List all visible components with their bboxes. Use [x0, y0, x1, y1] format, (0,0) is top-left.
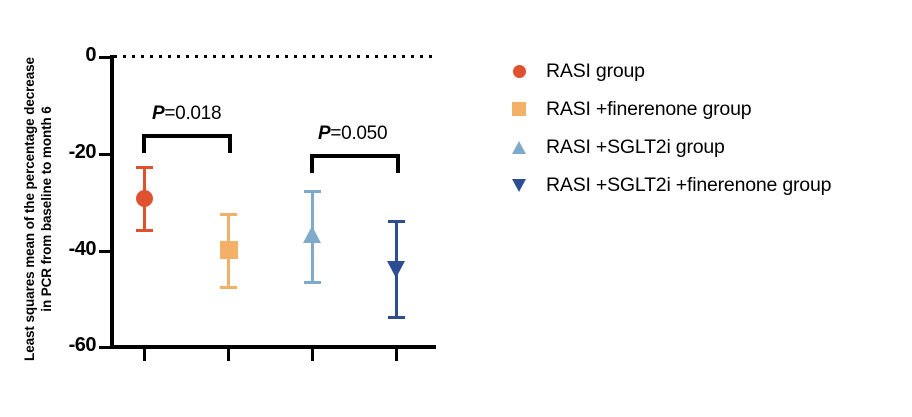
error-bar-cap-lower-3 — [304, 281, 321, 284]
legend-key-triangle-up-icon — [507, 135, 531, 159]
marker-triangle-up-icon — [303, 226, 321, 243]
error-bar-cap-upper-3 — [304, 190, 321, 193]
marker-square-icon — [220, 241, 238, 259]
legend-item-rasi-finerenone-group[interactable]: RASI +finerenone group — [495, 90, 910, 128]
p-value-text-1: =0.018 — [164, 103, 221, 124]
data-point-rasi-sglt2i-finerenone-group[interactable] — [396, 220, 397, 319]
error-bar-cap-upper-1 — [136, 166, 153, 169]
marker-circle-icon — [136, 190, 153, 207]
data-point-rasi-sglt2i-group[interactable] — [312, 190, 313, 284]
legend-item-rasi-sglt2i-finerenone-group[interactable]: RASI +SGLT2i +finerenone group — [495, 166, 910, 204]
chart-legend: RASI group RASI +finerenone group RASI +… — [495, 52, 910, 204]
data-point-rasi-group[interactable] — [144, 166, 145, 232]
x-tick-3 — [311, 347, 315, 361]
y-tick-3 — [99, 346, 110, 350]
y-tick-label-2: -40 — [50, 239, 96, 259]
p-value-annotation-2: P=0.050 — [318, 124, 387, 144]
error-bar-cap-lower-2 — [220, 286, 237, 289]
x-tick-4 — [395, 347, 399, 361]
legend-label-2: RASI +finerenone group — [546, 98, 751, 120]
legend-item-rasi-group[interactable]: RASI group — [495, 52, 910, 90]
legend-item-rasi-sglt2i-group[interactable]: RASI +SGLT2i group — [495, 128, 910, 166]
y-tick-label-3: -60 — [50, 335, 96, 355]
legend-label-3: RASI +SGLT2i group — [546, 136, 725, 158]
y-tick-1 — [99, 153, 110, 157]
legend-key-circle-icon — [507, 59, 531, 83]
error-bar-cap-lower-1 — [136, 229, 153, 232]
p-symbol-1: P — [152, 103, 164, 124]
y-tick-2 — [99, 250, 110, 254]
legend-label-4: RASI +SGLT2i +finerenone group — [546, 174, 831, 196]
error-bar-cap-lower-4 — [388, 316, 405, 319]
legend-key-square-icon — [507, 97, 531, 121]
legend-key-triangle-down-icon — [507, 173, 531, 197]
error-bar-cap-upper-4 — [388, 220, 405, 223]
y-axis-line — [110, 55, 114, 349]
x-tick-2 — [227, 347, 231, 361]
p-symbol-2: P — [318, 123, 330, 144]
legend-label-1: RASI group — [546, 60, 645, 82]
y-tick-0 — [99, 56, 110, 60]
x-axis-line — [110, 345, 436, 349]
zero-reference-line — [114, 55, 434, 58]
figure-root: Least squares mean of the percentage dec… — [0, 0, 912, 417]
p-value-annotation-1: P=0.018 — [152, 104, 221, 124]
data-point-rasi-finerenone-group[interactable] — [228, 213, 229, 289]
x-tick-1 — [143, 347, 147, 361]
marker-triangle-down-icon — [387, 261, 405, 278]
y-tick-label-1: -20 — [50, 142, 96, 162]
plot-area: 0 -20 -40 -60 P=0.018 P=0.050 — [0, 0, 456, 417]
p-value-text-2: =0.050 — [330, 123, 387, 144]
y-tick-label-0: 0 — [50, 45, 96, 65]
error-bar-cap-upper-2 — [220, 213, 237, 216]
